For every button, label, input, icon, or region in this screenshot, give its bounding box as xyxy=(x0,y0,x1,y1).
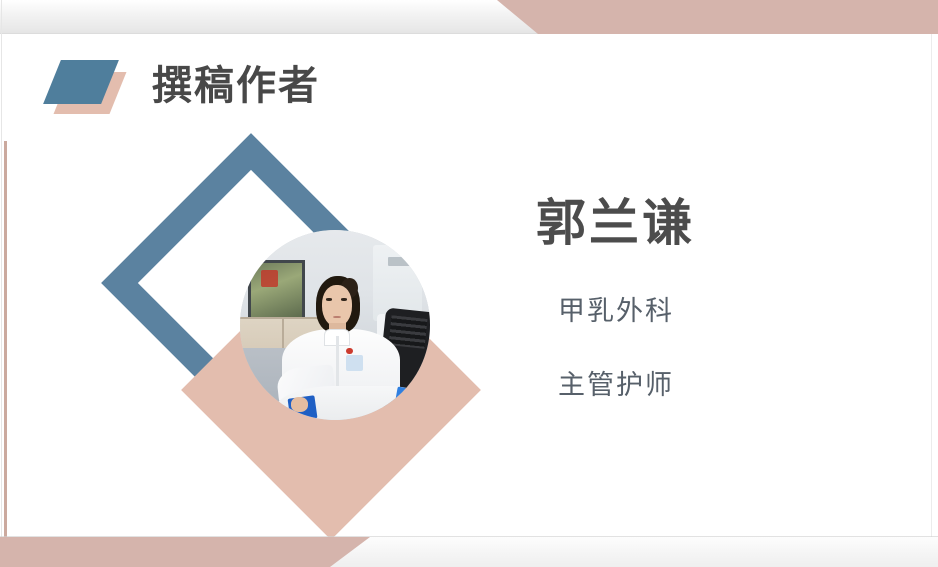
photo-chair-slats xyxy=(389,316,428,350)
photo-mouth xyxy=(333,316,341,319)
page-title: 撰稿作者 xyxy=(152,66,320,106)
photo-equipment-label xyxy=(388,257,413,267)
author-title: 主管护师 xyxy=(558,369,866,401)
portrait-composition xyxy=(120,150,500,500)
slide-header: 撰稿作者 xyxy=(48,58,320,114)
left-pink-rule xyxy=(4,141,7,537)
author-portrait-photo xyxy=(240,230,430,420)
double-parallelogram-icon xyxy=(48,58,130,114)
photo-blue-item xyxy=(394,386,416,408)
photo-face xyxy=(322,285,352,327)
author-name: 郭兰谦 xyxy=(536,196,866,251)
author-info-block: 郭兰谦 甲乳外科 主管护师 xyxy=(536,196,866,402)
photo-lapel-pin xyxy=(346,348,352,354)
top-right-pink-wedge xyxy=(470,0,938,34)
photo-red-sign xyxy=(261,270,278,287)
slide-canvas: 撰稿作者 xyxy=(0,0,938,567)
author-department: 甲乳外科 xyxy=(558,295,866,327)
photo-id-badge xyxy=(346,355,363,370)
right-edge-rule xyxy=(931,34,932,537)
left-edge-rule xyxy=(1,0,2,537)
